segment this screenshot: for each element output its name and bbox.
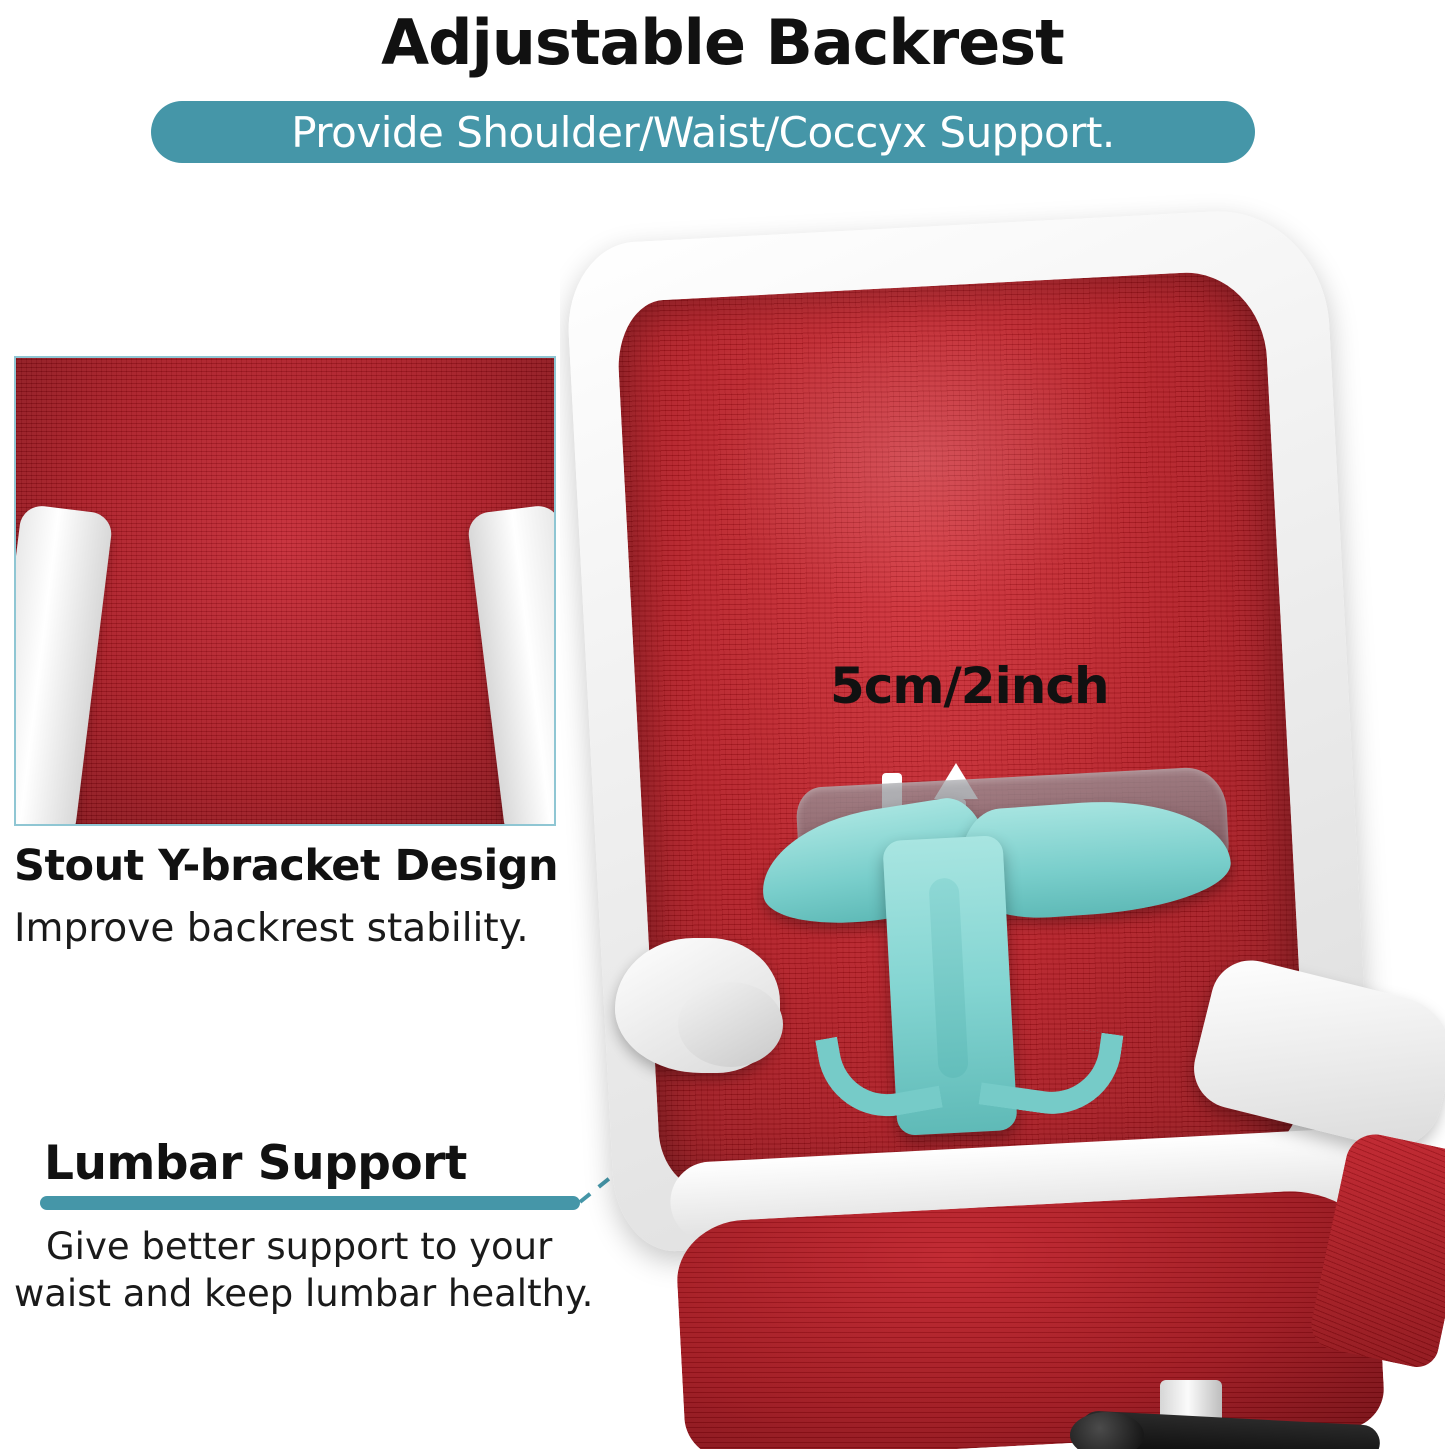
feature-description-y-bracket: Improve backrest stability.	[14, 906, 529, 951]
product-photo: 5cm/2inch red mesh office chair with whi…	[560, 190, 1445, 1449]
ybracket-detail-photo: close-up detail of Y-bracket on backrest	[14, 356, 556, 826]
feature-title-y-bracket: Stout Y-bracket Design	[14, 841, 558, 891]
subtitle-text: Provide Shoulder/Waist/Coccyx Support.	[291, 108, 1115, 157]
tilt-tension-knob-inner	[678, 982, 783, 1067]
adjustment-range-label: 5cm/2inch	[830, 657, 1109, 715]
mesh-highlight	[702, 299, 1137, 621]
feature-description-lumbar-line1: Give better support to your	[46, 1225, 552, 1268]
lumbar-title-underline	[40, 1196, 580, 1210]
page-title: Adjustable Backrest	[0, 6, 1445, 79]
subtitle-pill: Provide Shoulder/Waist/Coccyx Support.	[151, 101, 1255, 163]
product-photo-caption: red mesh office chair with white frame a…	[560, 190, 561, 191]
seat-cushion	[674, 1187, 1386, 1449]
feature-description-lumbar-line2: waist and keep lumbar healthy.	[14, 1272, 593, 1315]
feature-title-lumbar-support: Lumbar Support	[44, 1136, 467, 1191]
